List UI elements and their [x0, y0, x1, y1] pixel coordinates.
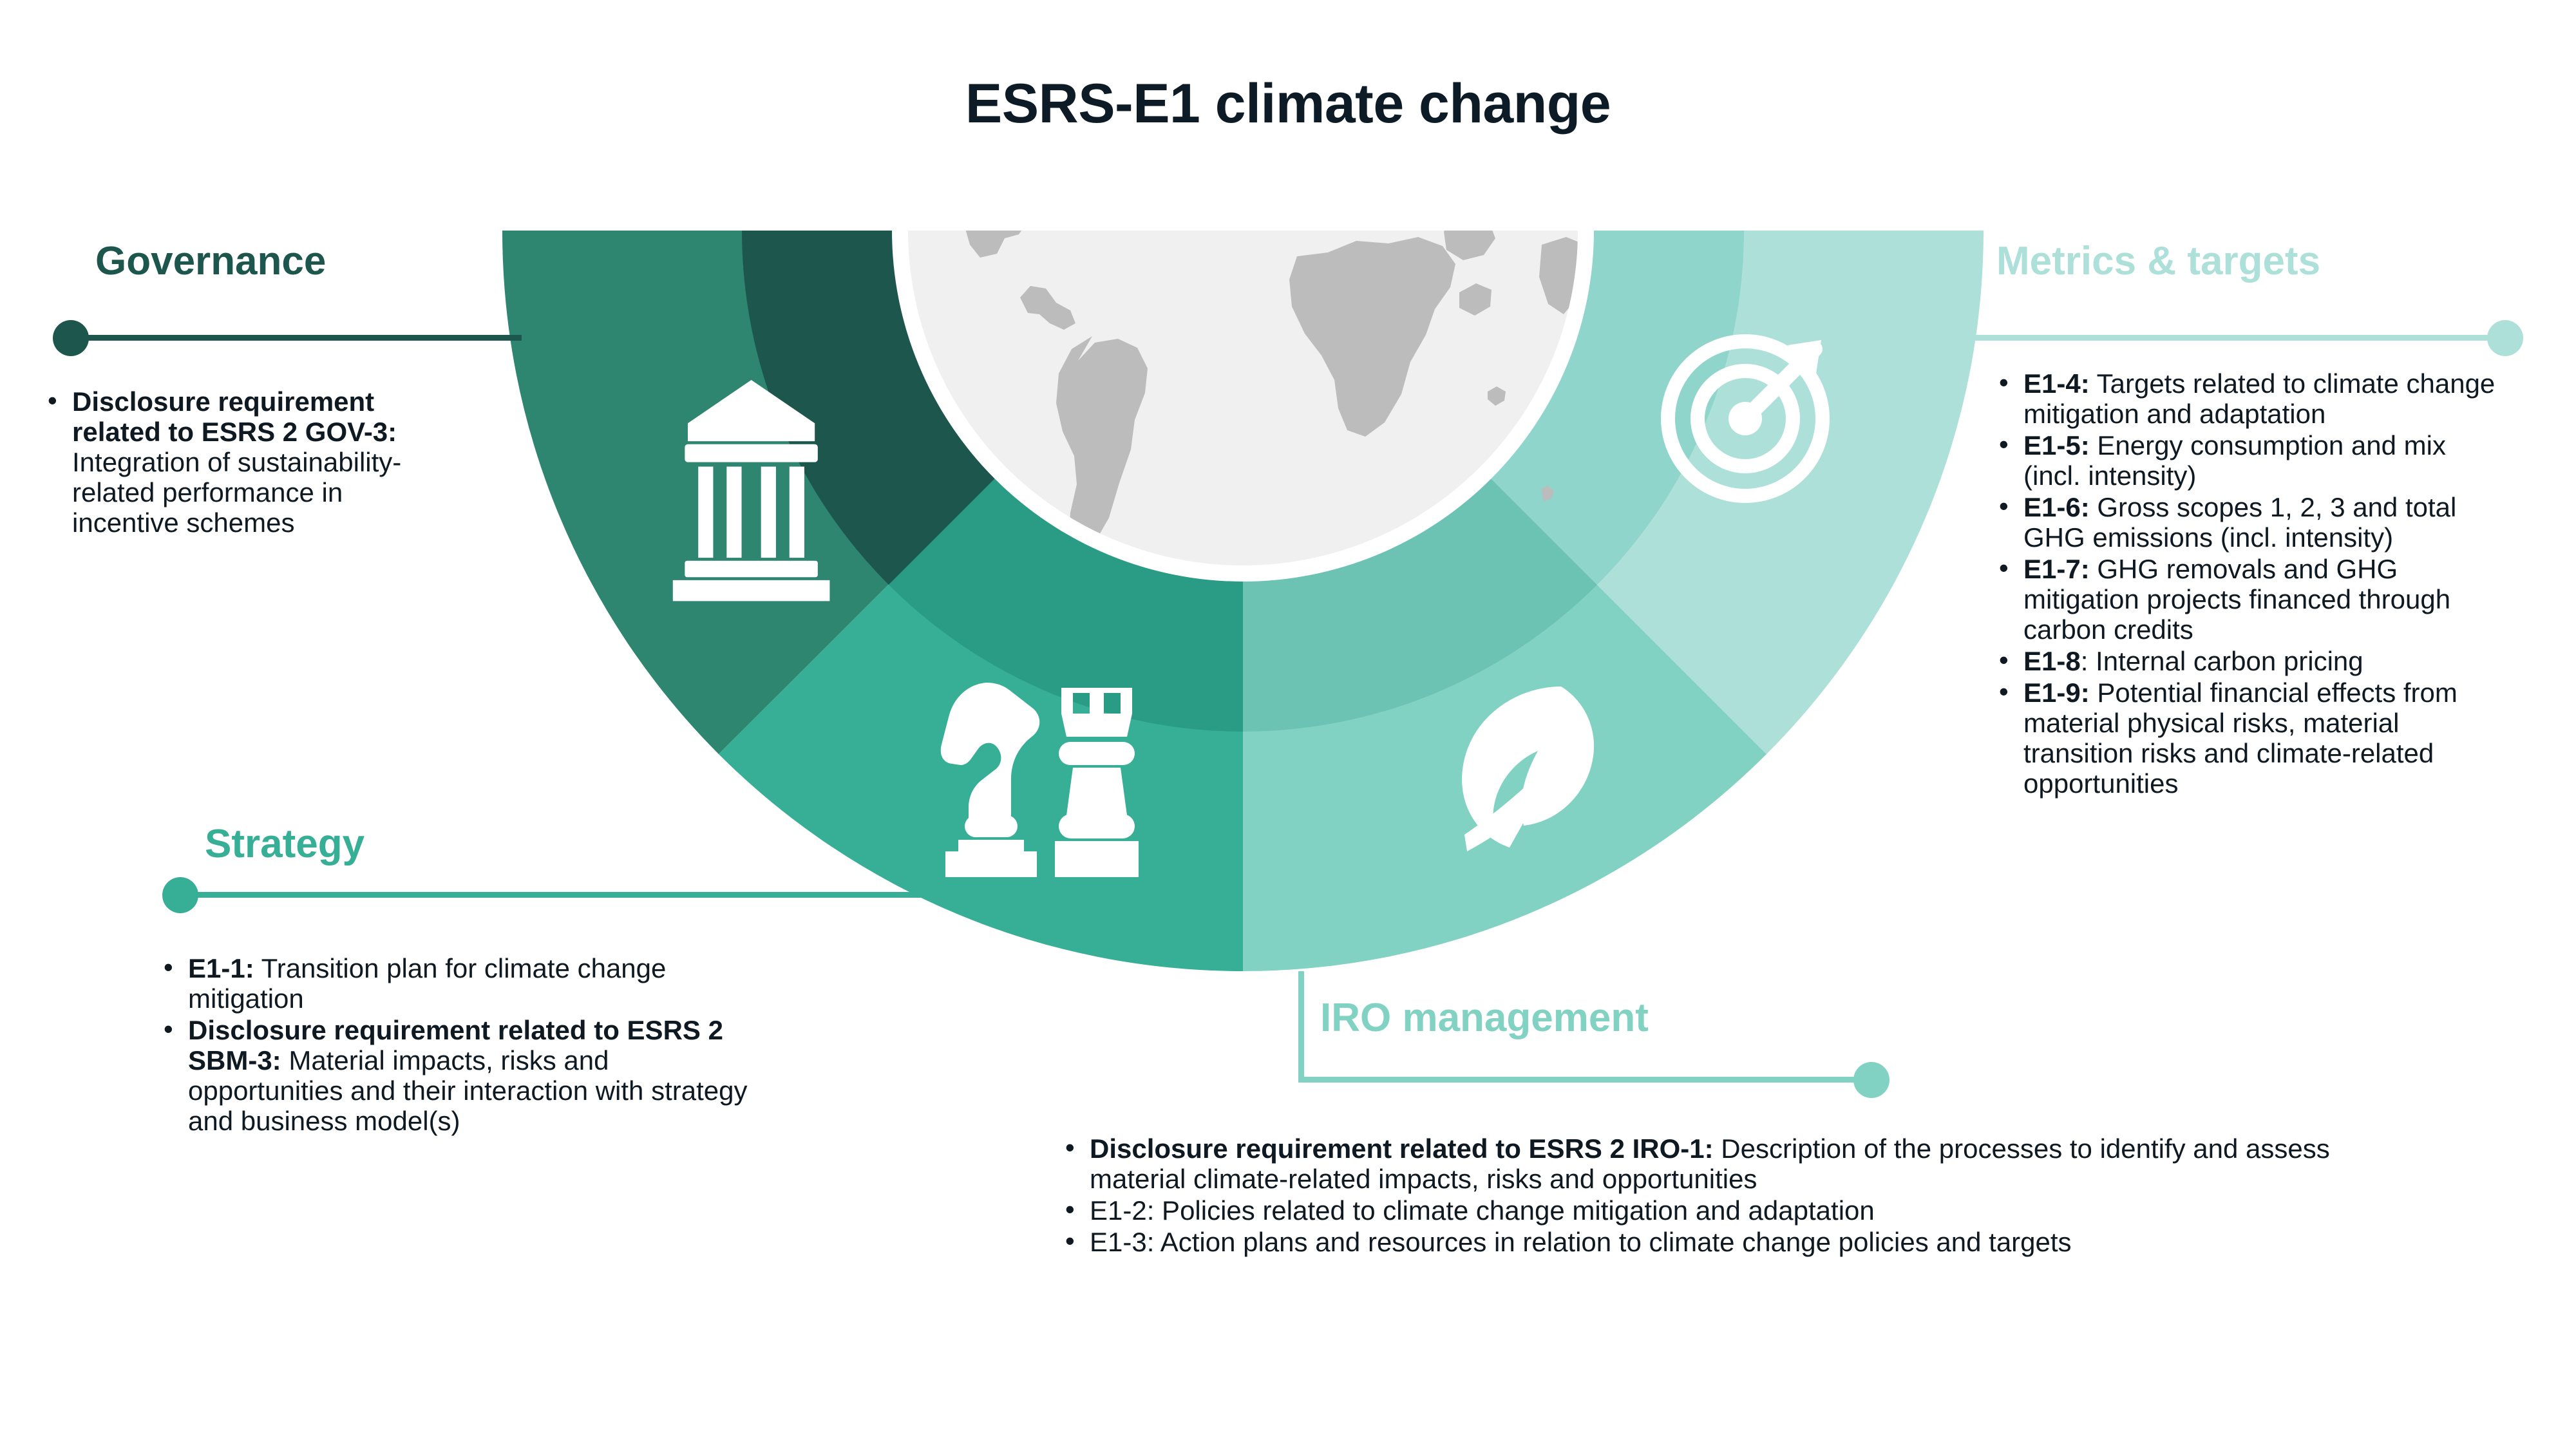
list-item: Disclosure requirement related to ESRS 2… [155, 1015, 760, 1136]
inner-wedge-metrics-targets [1243, 231, 1744, 585]
bullet-list-strategy: E1-1: Transition plan for climate change… [155, 953, 760, 1137]
list-item: E1-4: Targets related to climate change … [1990, 368, 2505, 429]
list-item-bold: E1-7: [2023, 554, 2090, 584]
section-heading-iro-management: IRO management [1320, 995, 1649, 1041]
connector-dot-iro-management [1853, 1062, 1889, 1098]
list-item-rest: E1-2: Policies related to climate change… [1090, 1195, 1875, 1226]
list-item-bold: E1-4: [2023, 368, 2090, 399]
list-item: E1-9: Potential financial effects from m… [1990, 677, 2505, 799]
bullet-list-metrics-targets: E1-4: Targets related to climate change … [1990, 368, 2505, 800]
list-item-bold: Disclosure requirement related to ESRS 2… [72, 386, 397, 447]
connector-dot-governance [53, 320, 89, 356]
list-item: Disclosure requirement related to ESRS 2… [1056, 1133, 2396, 1194]
bullet-list-governance: Disclosure requirement related to ESRS 2… [39, 386, 451, 539]
chess-pieces-icon [941, 683, 1139, 877]
list-item-bold: Disclosure requirement related to ESRS 2… [1090, 1133, 1714, 1164]
list-item-rest: Transition plan for climate change mitig… [188, 953, 666, 1014]
list-item: E1-5: Energy consumption and mix (incl. … [1990, 430, 2505, 491]
inner-wedge-strategy [889, 231, 1243, 732]
list-item: E1-6: Gross scopes 1, 2, 3 and total GHG… [1990, 492, 2505, 553]
list-item-bold: E1-6: [2023, 492, 2090, 522]
page-title: ESRS-E1 climate change [0, 72, 2576, 136]
list-item-bold: E1-9: [2023, 677, 2090, 708]
connector-dot-metrics-targets [2487, 320, 2523, 356]
bank-icon [673, 380, 830, 601]
inner-wedge-iro-management [1243, 231, 1597, 732]
section-heading-governance: Governance [95, 238, 326, 284]
list-item-bold: E1-8 [2023, 646, 2081, 676]
list-item: E1-8: Internal carbon pricing [1990, 646, 2505, 676]
leaf-icon [1462, 687, 1594, 851]
inner-wedge-governance [742, 231, 1243, 585]
target-icon [1668, 340, 1823, 496]
section-heading-strategy: Strategy [205, 821, 365, 867]
list-item: E1-1: Transition plan for climate change… [155, 953, 760, 1014]
wedge-strategy [719, 231, 1243, 971]
list-item-rest: Targets related to climate change mitiga… [2023, 368, 2495, 429]
wedge-metrics-targets [1243, 231, 1984, 754]
bullet-list-iro-management: Disclosure requirement related to ESRS 2… [1056, 1133, 2396, 1258]
globe-island-fragment [1541, 486, 1554, 501]
section-heading-metrics-targets: Metrics & targets [1996, 238, 2320, 284]
connector-dot-strategy [162, 877, 198, 913]
wedge-iro-management [1243, 231, 1766, 971]
list-item-rest: E1-3: Action plans and resources in rela… [1090, 1227, 2072, 1257]
list-item-rest: Integration of sustainability-related pe… [72, 447, 401, 538]
list-item-bold: E1-1: [188, 953, 254, 983]
list-item: E1-3: Action plans and resources in rela… [1056, 1227, 2396, 1257]
list-item: E1-2: Policies related to climate change… [1056, 1195, 2396, 1226]
list-item: Disclosure requirement related to ESRS 2… [39, 386, 451, 538]
list-item-bold: E1-5: [2023, 430, 2090, 460]
wedge-governance [502, 231, 1243, 754]
list-item: E1-7: GHG removals and GHG mitigation pr… [1990, 554, 2505, 645]
list-item-rest: : Internal carbon pricing [2081, 646, 2363, 676]
